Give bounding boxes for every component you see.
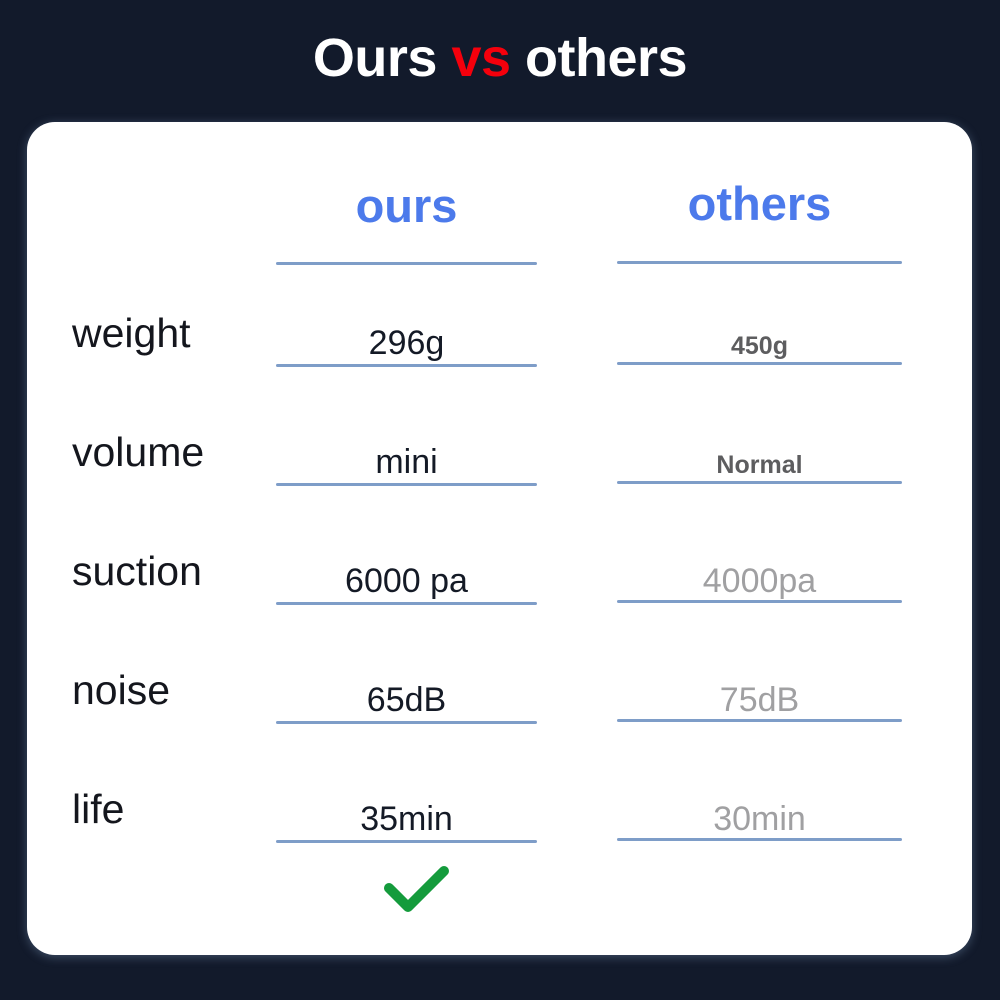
cell-others-volume: Normal: [617, 453, 902, 478]
ours-winner-badge: [382, 862, 452, 917]
cell-ours-weight: 296g: [276, 326, 537, 360]
cell-ours-noise: 65dB: [276, 683, 537, 717]
header-rule-others: [617, 261, 902, 264]
header-rule-ours: [276, 262, 537, 265]
cell-others-life: 30min: [617, 802, 902, 836]
row-rule-others-suction: [617, 600, 902, 603]
row-rule-others-weight: [617, 362, 902, 365]
row-label-life: life: [72, 789, 124, 830]
cell-ours-suction: 6000 pa: [276, 564, 537, 598]
row-rule-others-life: [617, 838, 902, 841]
row-label-noise: noise: [72, 670, 170, 711]
column-header-ours: ours: [276, 182, 537, 229]
cell-ours-volume: mini: [276, 445, 537, 479]
row-label-suction: suction: [72, 551, 202, 592]
cell-others-noise: 75dB: [617, 683, 902, 717]
page-header: Ours vs others: [0, 0, 1000, 122]
cell-others-suction: 4000pa: [617, 564, 902, 598]
cell-others-weight: 450g: [617, 334, 902, 359]
page-title-after: others: [511, 28, 688, 88]
page-title-before: Ours: [313, 28, 452, 88]
page-title-highlight: vs: [451, 28, 510, 88]
row-rule-others-noise: [617, 719, 902, 722]
row-rule-ours-life: [276, 840, 537, 843]
row-rule-others-volume: [617, 481, 902, 484]
row-rule-ours-weight: [276, 364, 537, 367]
comparison-card: ours others weight 296g 450g volume mini…: [27, 122, 972, 955]
row-label-weight: weight: [72, 313, 191, 354]
row-rule-ours-suction: [276, 602, 537, 605]
page-title: Ours vs others: [313, 31, 687, 91]
row-rule-ours-noise: [276, 721, 537, 724]
row-label-volume: volume: [72, 432, 204, 473]
cell-ours-life: 35min: [276, 802, 537, 836]
column-header-others: others: [617, 180, 902, 227]
check-icon: [382, 862, 452, 917]
row-rule-ours-volume: [276, 483, 537, 486]
comparison-table: ours others weight 296g 450g volume mini…: [27, 122, 972, 955]
